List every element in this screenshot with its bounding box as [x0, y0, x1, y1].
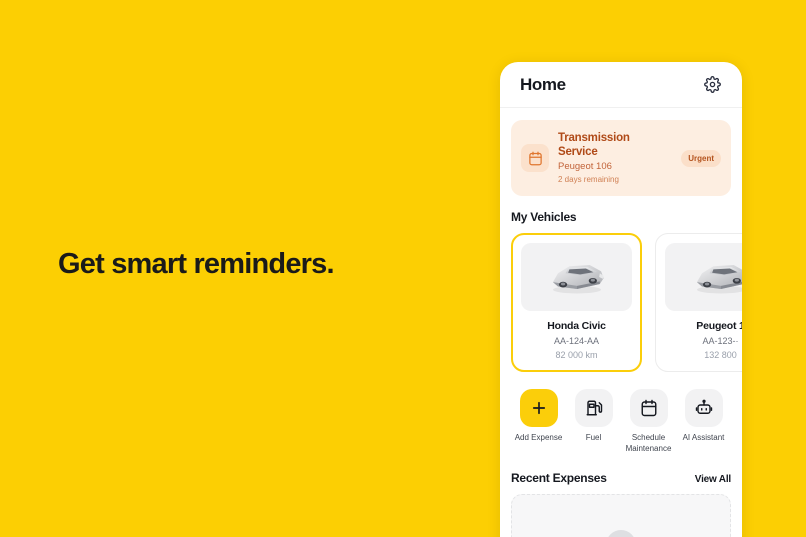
- reminder-vehicle: Peugeot 106: [558, 161, 672, 173]
- gear-icon[interactable]: [702, 75, 722, 95]
- quick-action-label: AI Assistant: [683, 433, 725, 444]
- marketing-headline: Get smart reminders.: [58, 248, 334, 281]
- vehicle-card-honda-civic[interactable]: Honda Civic AA-124-AA 82 000 km: [511, 233, 642, 372]
- vehicle-mileage: 132 800: [665, 350, 742, 360]
- quick-action-add-expense[interactable]: Add Expense: [511, 389, 566, 455]
- status-badge: Urgent: [681, 150, 721, 167]
- vehicle-name: Peugeot 1: [665, 320, 742, 332]
- quick-actions: Add Expense Fuel Schedule Maintenanc: [500, 372, 742, 455]
- view-all-link[interactable]: View All: [695, 474, 731, 485]
- plus-icon[interactable]: [520, 389, 558, 427]
- vehicle-plate: AA-124-AA: [521, 336, 632, 346]
- expenses-section-header: Recent Expenses View All: [511, 471, 731, 485]
- vehicle-card-peugeot[interactable]: Peugeot 1 AA-123-· 132 800: [655, 233, 742, 372]
- quick-action-ai-assistant[interactable]: AI Assistant: [676, 389, 731, 455]
- reminder-section: Transmission Service Peugeot 106 2 days …: [500, 108, 742, 196]
- avatar: [606, 530, 636, 537]
- vehicle-mileage: 82 000 km: [521, 350, 632, 360]
- quick-action-label: Add Expense: [515, 433, 563, 444]
- calendar-icon[interactable]: [630, 389, 668, 427]
- vehicles-section-title: My Vehicles: [511, 210, 576, 224]
- quick-action-fuel[interactable]: Fuel: [566, 389, 621, 455]
- reminder-text: Transmission Service Peugeot 106 2 days …: [558, 131, 672, 185]
- quick-action-label: Fuel: [586, 433, 602, 444]
- app-header: Home: [500, 62, 742, 108]
- calendar-icon: [521, 144, 549, 172]
- reminder-title: Transmission Service: [558, 131, 672, 160]
- reminder-card[interactable]: Transmission Service Peugeot 106 2 days …: [511, 120, 731, 196]
- car-3d-icon: [665, 243, 742, 311]
- vehicle-plate: AA-123-·: [665, 336, 742, 346]
- fuel-pump-icon[interactable]: [575, 389, 613, 427]
- expenses-section-title: Recent Expenses: [511, 471, 607, 485]
- quick-action-label: Schedule Maintenance: [623, 433, 675, 455]
- expense-placeholder-card[interactable]: [511, 494, 731, 537]
- phone-mockup: Home Transmission Service Peugeot 106 2 …: [500, 62, 742, 537]
- vehicles-section-header: My Vehicles: [500, 196, 742, 224]
- vehicle-name: Honda Civic: [521, 320, 632, 332]
- vehicles-carousel[interactable]: Honda Civic AA-124-AA 82 000 km: [500, 224, 742, 372]
- robot-icon[interactable]: [685, 389, 723, 427]
- quick-action-schedule-maintenance[interactable]: Schedule Maintenance: [621, 389, 676, 455]
- expenses-section: Recent Expenses View All: [500, 455, 742, 537]
- page-title: Home: [520, 75, 566, 95]
- car-3d-icon: [521, 243, 632, 311]
- reminder-remaining: 2 days remaining: [558, 175, 672, 185]
